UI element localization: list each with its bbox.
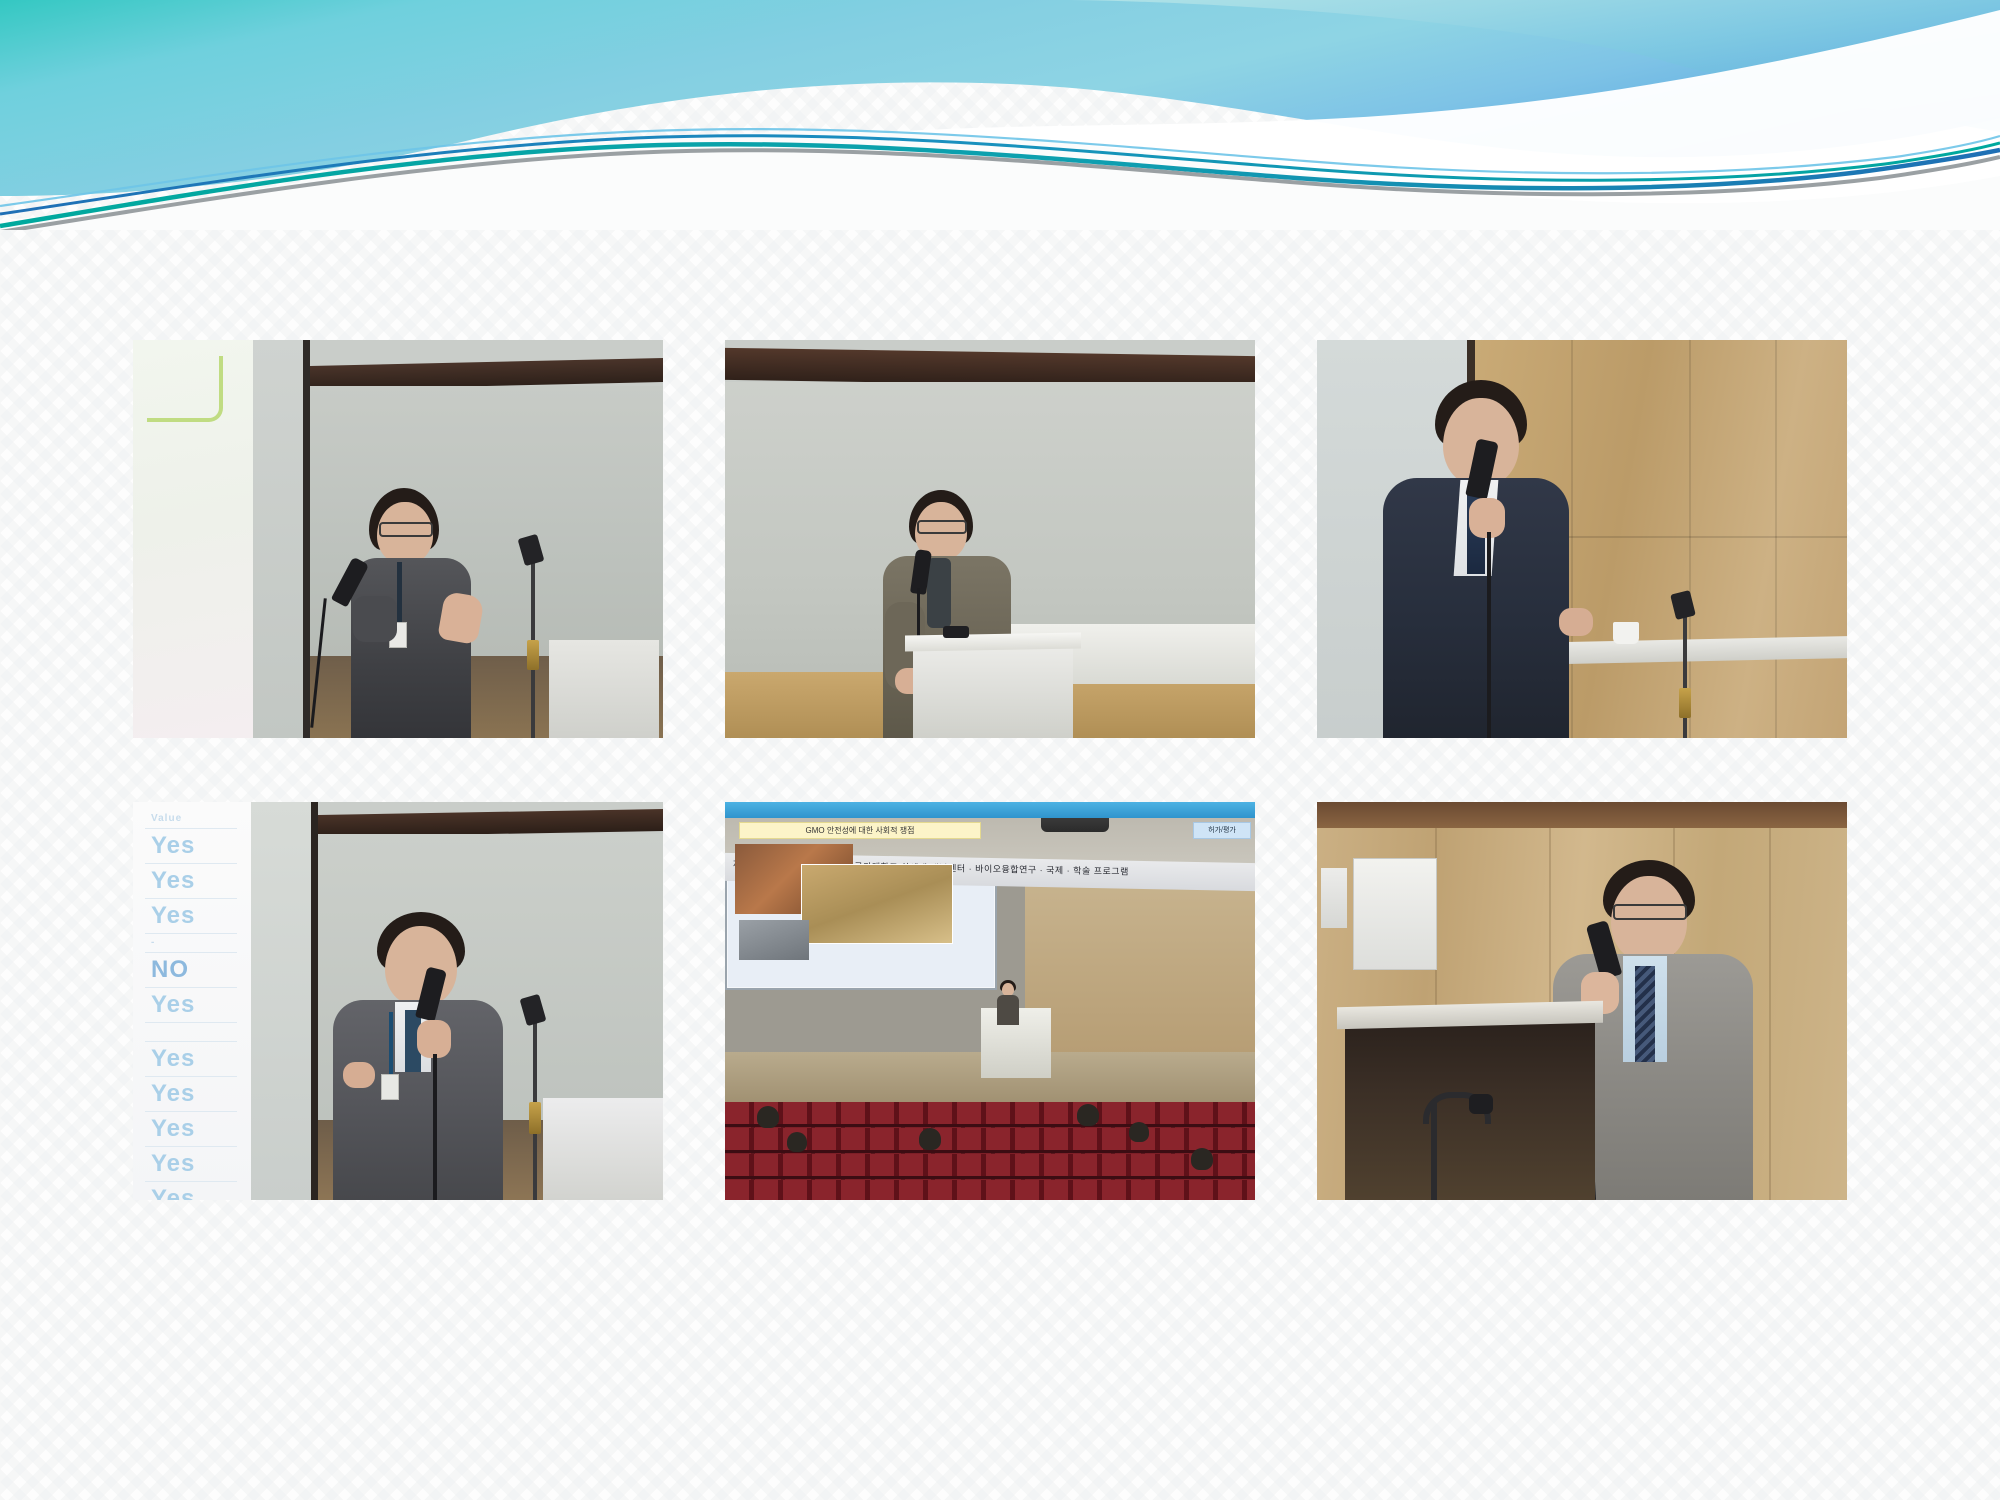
results-table: Value Yes Yes Yes - NO Yes Yes Yes Yes Y… [145,810,237,1200]
results-table-cell: - [145,934,237,953]
projected-results-table: Value Yes Yes Yes - NO Yes Yes Yes Yes Y… [133,802,251,1200]
paper-cup [1613,622,1639,644]
photo-3-presenter-navy-suit[interactable] [1317,340,1847,738]
photo-grid: Value Yes Yes Yes - NO Yes Yes Yes Yes Y… [133,340,1847,1200]
photo-1-presenter-female[interactable] [133,340,663,738]
panel-seam [1775,340,1777,738]
results-table-cell [145,1023,237,1042]
audience-head [787,1132,807,1152]
speaker-arm-left [353,596,397,642]
speaker-torso [351,558,471,738]
audience-head [1129,1122,1149,1142]
results-table-cell: Yes [145,988,237,1023]
results-table-cell: Yes [145,1077,237,1112]
speaker-figure [997,980,1019,1024]
panel-seam [1689,340,1691,738]
results-table-cell: Yes [145,899,237,934]
speaker-figure [1383,380,1583,738]
projected-slide-green-corner [147,356,223,422]
wall-notice-board [1353,858,1437,970]
wall-segment [251,802,313,1200]
results-table-cell: Yes [145,864,237,899]
microphone-cord [433,1054,437,1200]
projection-screen-left [133,340,253,738]
microphone-cord [1487,532,1491,738]
right-wood-wall [1025,872,1255,1052]
speaker-hand-mic [417,1020,451,1058]
speaker-glasses [379,522,433,537]
speaker-id-badge [381,1074,399,1100]
slide-photo-grain [801,864,953,944]
mic-stand-pole [1683,606,1687,738]
mic-stand-collar [1679,688,1691,718]
results-table-cell: Yes [145,1182,237,1200]
wall-edge [311,802,318,1200]
photo-6-presenter-at-wood-lectern[interactable] [1317,802,1847,1200]
ceiling-beam [318,809,663,837]
lectern [913,640,1073,738]
wall-switch-panel [1321,868,1347,928]
gooseneck-microphone-head [1469,1094,1493,1114]
ceiling-trim [1317,802,1847,828]
podium [549,640,659,738]
results-table-header: Value [145,810,237,829]
speaker-torso [997,995,1019,1025]
presentation-slide: Value Yes Yes Yes - NO Yes Yes Yes Yes Y… [0,0,2000,1500]
results-table-cell: Yes [145,1147,237,1182]
podium [543,1098,663,1200]
results-table-cell: Yes [145,829,237,864]
seat-row [725,1180,1255,1200]
audience-head [1077,1104,1099,1126]
wall-segment [253,340,305,738]
speaker-hand-right [1559,608,1593,636]
speaker-hand-right [437,591,485,645]
mic-stand-collar [527,640,539,670]
lectern [1345,1018,1595,1200]
results-table-cell: Yes [145,1042,237,1077]
photo-4-presenter-with-results-table[interactable]: Value Yes Yes Yes - NO Yes Yes Yes Yes Y… [133,802,663,1200]
seat-row [725,1154,1255,1179]
mic-stand-collar [529,1102,541,1134]
speaker-glasses [1613,904,1687,920]
audience-head [757,1106,779,1128]
results-table-cell: NO [145,953,237,988]
gooseneck-mic-stem [1431,1100,1437,1200]
slide-title-text: GMO 안전성에 대한 사회적 쟁점 [739,822,981,839]
results-table-cell: Yes [145,1112,237,1147]
speaker-lanyard [389,1012,393,1078]
audience-head [919,1128,941,1150]
speaker-glasses [917,520,967,534]
speaker-hand-left [343,1062,375,1088]
speaker-scarf [927,558,951,628]
lectern-microphone [943,626,969,638]
slide-photo-chart [739,920,809,960]
slide-header-wisp-graphic [0,0,2000,230]
audience-seating [725,1102,1255,1200]
wall-edge [303,340,310,738]
speaker-necktie [1635,966,1655,1062]
slide-header-bar [725,802,1255,818]
speaker-figure [345,488,495,738]
photo-5-lecture-hall-overview[interactable]: 제 7회 국제 심포지엄 · 국립 · 국가대학교 차세대 개발센터 · 바이오… [725,802,1255,1200]
audience-head [1191,1148,1213,1170]
speaker-figure [333,912,513,1200]
slide-badge-text: 허가/평가 [1193,822,1251,839]
seat-row [725,1102,1255,1127]
photo-2-presenter-at-lectern[interactable] [725,340,1255,738]
speaker-lanyard [397,562,402,624]
lectern-top [905,632,1081,651]
